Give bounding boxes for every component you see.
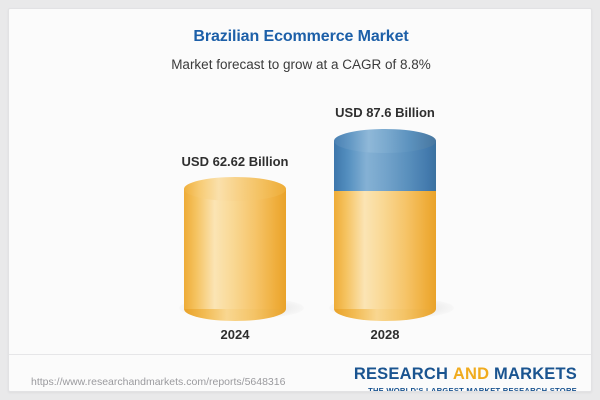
- x-axis-label-2028: 2028: [275, 327, 495, 342]
- cylinder-2028[interactable]: [334, 129, 436, 309]
- logo-word-and: AND: [453, 365, 489, 383]
- footer-divider: [9, 354, 592, 355]
- data-label-2028: USD 87.6 Billion: [275, 105, 495, 120]
- logo-word-research: RESEARCH: [354, 365, 448, 383]
- chart-plot-area: USD 62.62 Billion 2024 USD 87.6 Billion: [9, 9, 592, 355]
- data-label-2024: USD 62.62 Billion: [125, 154, 345, 169]
- logo-tagline: THE WORLD'S LARGEST MARKET RESEARCH STOR…: [354, 386, 577, 393]
- cylinder-top-cap-2024: [184, 177, 286, 201]
- cylinder-top-cap-2028: [334, 129, 436, 153]
- logo-word-markets: MARKETS: [494, 365, 577, 383]
- logo-wordmark: RESEARCH AND MARKETS: [354, 366, 577, 383]
- cylinder-2024[interactable]: [184, 177, 286, 309]
- cylinder-body-2024: [184, 189, 286, 309]
- cylinder-base-segment-2028: [334, 189, 436, 309]
- source-url-link[interactable]: https://www.researchandmarkets.com/repor…: [31, 376, 285, 388]
- research-and-markets-logo[interactable]: RESEARCH AND MARKETS THE WORLD'S LARGEST…: [354, 366, 577, 392]
- chart-card: Brazilian Ecommerce Market Market foreca…: [8, 8, 592, 392]
